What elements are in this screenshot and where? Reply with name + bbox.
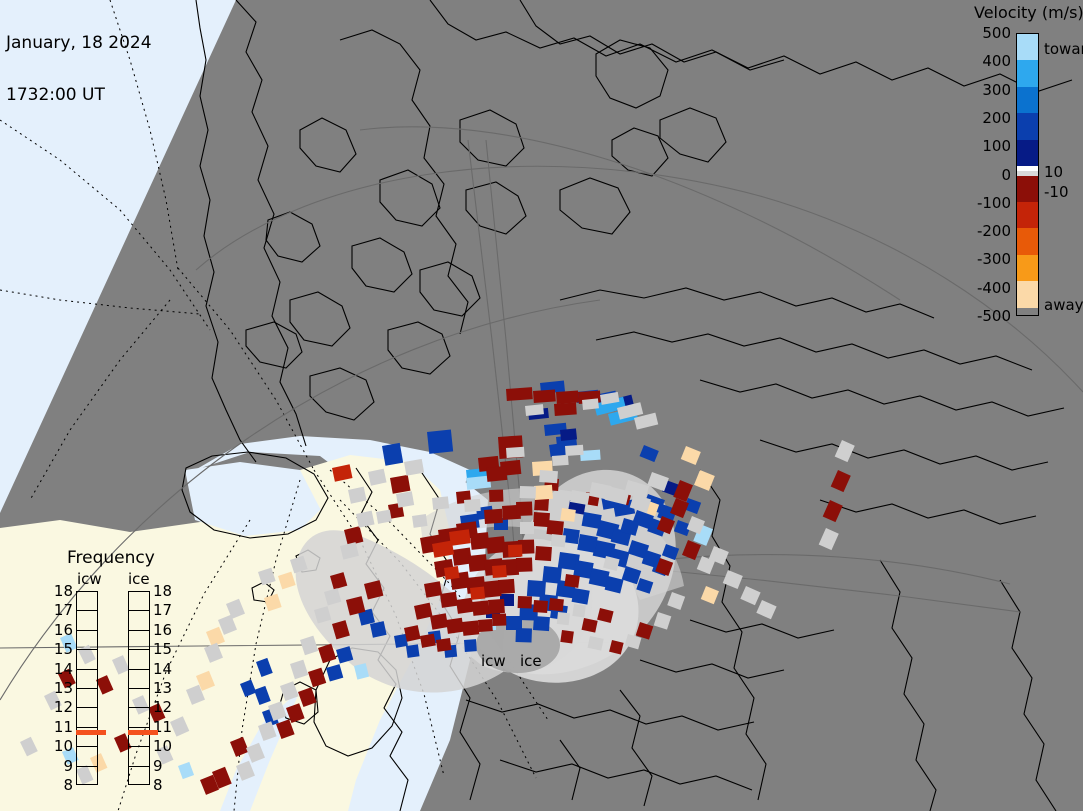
frequency-tick-14: 14: [49, 660, 73, 678]
frequency-tick-15: 15: [153, 640, 177, 658]
frequency-segment: [77, 708, 97, 727]
velocity-colorbar: [1016, 33, 1039, 316]
frequency-tick-17: 17: [153, 601, 177, 619]
colorbar-band-10: [1017, 255, 1038, 281]
radar-label-ice: ice: [520, 652, 542, 670]
frequency-legend-title: Frequency: [67, 548, 155, 568]
frequency-tick-14: 14: [153, 660, 177, 678]
frequency-segment: [77, 767, 97, 786]
frequency-segment: [77, 650, 97, 669]
colorbar-band-1: [1017, 60, 1038, 86]
frequency-segment: [77, 689, 97, 708]
colorbar-title: Velocity (m/s): [974, 3, 1083, 22]
frequency-tick-9: 9: [49, 757, 73, 775]
colorbar-band-4: [1017, 140, 1038, 166]
colorbar-band-7: [1017, 176, 1038, 202]
colorbar-tick--100: -100: [955, 194, 1011, 212]
colorbar-tick--400: -400: [955, 279, 1011, 297]
frequency-tick-13: 13: [49, 679, 73, 697]
colorbar-tick-500: 500: [955, 24, 1011, 42]
frequency-marker-icw: [76, 730, 106, 735]
frequency-segment: [77, 592, 97, 611]
colorbar-tick-300: 300: [955, 81, 1011, 99]
frequency-segment: [77, 670, 97, 689]
frequency-tick-12: 12: [49, 698, 73, 716]
frequency-segment: [77, 611, 97, 630]
frequency-bar-icw: [76, 591, 98, 785]
colorbar-band-11: [1017, 281, 1038, 307]
frequency-tick-18: 18: [153, 582, 177, 600]
frequency-tick-18: 18: [49, 582, 73, 600]
radar-label-icw: icw: [481, 652, 506, 670]
frequency-tick-10: 10: [49, 737, 73, 755]
frequency-segment: [129, 592, 149, 611]
frequency-tick-9: 9: [153, 757, 177, 775]
colorbar-away-label: away: [1044, 296, 1083, 314]
colorbar-tick--200: -200: [955, 222, 1011, 240]
colorbar-tick-0: 0: [955, 166, 1011, 184]
frequency-segment: [129, 611, 149, 630]
frequency-legend: Frequency icw ice 18171615141312111098 1…: [55, 548, 185, 783]
timestamp-date: January, 18 2024: [6, 35, 152, 53]
colorbar-band-3: [1017, 113, 1038, 139]
frequency-tick-10: 10: [153, 737, 177, 755]
frequency-segment: [77, 631, 97, 650]
colorbar-zero-lower-label: -10: [1044, 183, 1069, 201]
frequency-tick-17: 17: [49, 601, 73, 619]
timestamp-time: 1732:00 UT: [6, 87, 152, 105]
frequency-segment: [77, 747, 97, 766]
timestamp: January, 18 2024 1732:00 UT: [6, 1, 152, 138]
radar-fan-plot-canvas: January, 18 2024 1732:00 UT Velocity (m/…: [0, 0, 1083, 811]
colorbar-band-0: [1017, 34, 1038, 60]
colorbar-tick--300: -300: [955, 250, 1011, 268]
colorbar-band-9: [1017, 228, 1038, 254]
frequency-segment: [129, 631, 149, 650]
frequency-tick-12: 12: [153, 698, 177, 716]
frequency-bar-ice: [128, 591, 150, 785]
colorbar-band-8: [1017, 202, 1038, 228]
colorbar-tick-100: 100: [955, 137, 1011, 155]
frequency-tick-11: 11: [49, 718, 73, 736]
frequency-ice-label: ice: [128, 570, 150, 588]
colorbar-toward-label: toward: [1044, 40, 1083, 58]
colorbar-band-2: [1017, 87, 1038, 113]
frequency-segment: [129, 689, 149, 708]
frequency-segment: [129, 708, 149, 727]
frequency-marker-ice: [128, 730, 158, 735]
frequency-tick-8: 8: [153, 776, 177, 794]
frequency-tick-13: 13: [153, 679, 177, 697]
colorbar-tick--500: -500: [955, 307, 1011, 325]
frequency-tick-15: 15: [49, 640, 73, 658]
frequency-tick-8: 8: [49, 776, 73, 794]
frequency-segment: [129, 670, 149, 689]
colorbar-zero-upper-label: 10: [1044, 163, 1063, 181]
frequency-segment: [129, 747, 149, 766]
frequency-segment: [129, 767, 149, 786]
colorbar-tick-400: 400: [955, 52, 1011, 70]
colorbar-tick-200: 200: [955, 109, 1011, 127]
frequency-icw-label: icw: [77, 570, 102, 588]
frequency-tick-16: 16: [153, 621, 177, 639]
frequency-segment: [129, 650, 149, 669]
frequency-tick-16: 16: [49, 621, 73, 639]
